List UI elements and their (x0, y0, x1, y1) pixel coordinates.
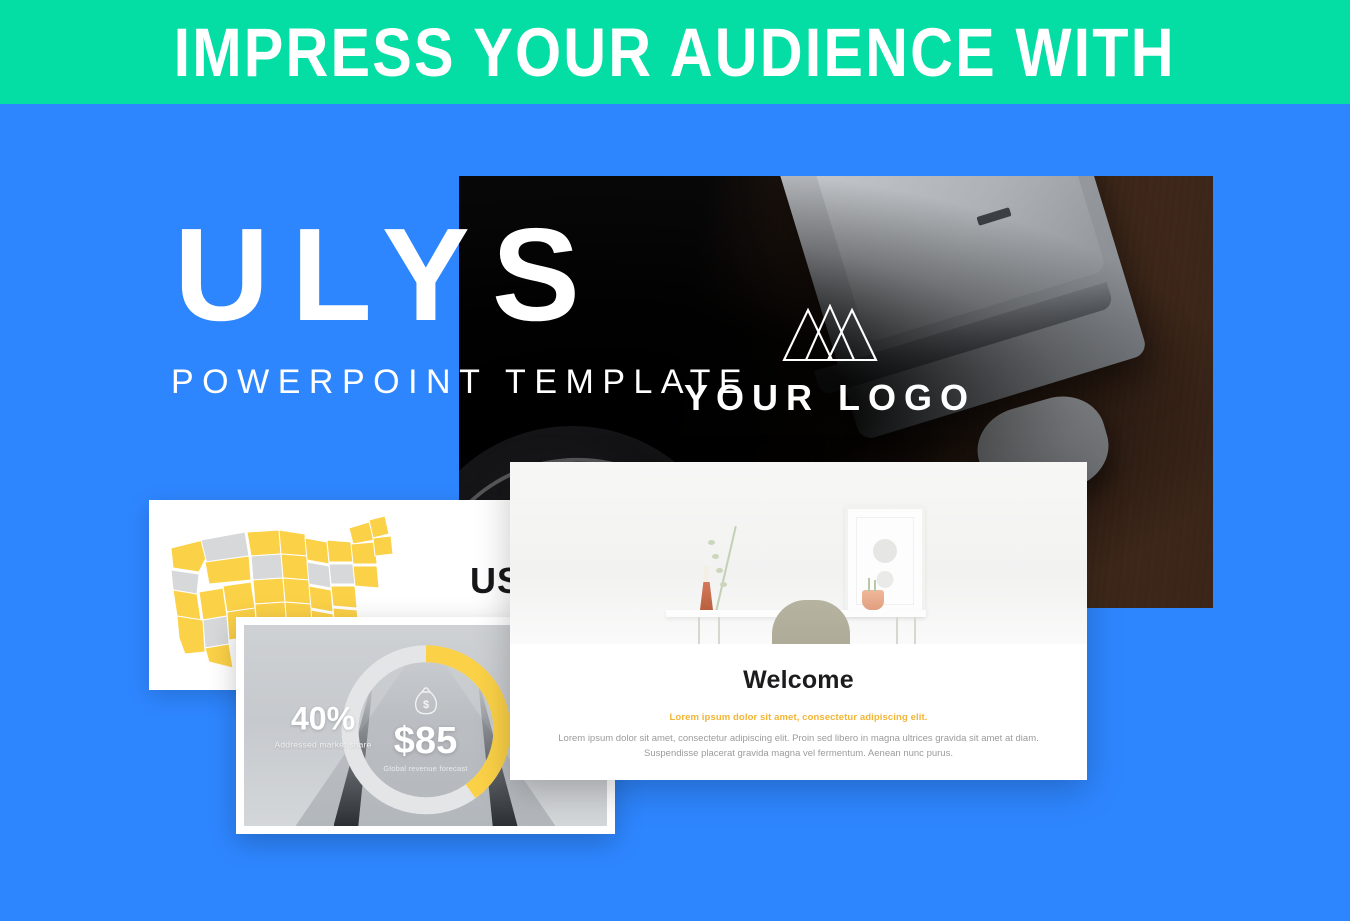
pot-sprig (868, 578, 870, 592)
framed-art-icon (845, 506, 925, 616)
slide-welcome-preview[interactable]: Welcome Lorem ipsum dolor sit amet, cons… (510, 462, 1087, 780)
art-circle-large (873, 539, 897, 563)
plant-leaf (716, 568, 723, 573)
chart-center-group: $ $85 Global revenue forecast (366, 685, 486, 772)
triple-triangle-logo-icon (780, 304, 880, 368)
money-bag-icon: $ (412, 685, 440, 715)
chart-center-label: Global revenue forecast (366, 763, 486, 772)
art-circle-small (877, 571, 894, 588)
chair-icon (772, 600, 850, 644)
showcase-stage: YOUR LOGO ULYS POWERPOINT TEMPLATE (0, 104, 1350, 921)
chart-center-value: $85 (366, 721, 486, 759)
candle-icon (704, 566, 709, 584)
workspace-photo (510, 462, 1087, 644)
welcome-title: Welcome (550, 666, 1047, 695)
desk-leg (698, 617, 700, 644)
desk-leg (914, 617, 916, 644)
welcome-body-text: Lorem ipsum dolor sit amet, consectetur … (550, 732, 1047, 761)
svg-text:$: $ (422, 698, 428, 710)
welcome-text-block: Welcome Lorem ipsum dolor sit amet, cons… (510, 644, 1087, 761)
logo-text: YOUR LOGO (655, 380, 1005, 416)
desk-leg (718, 617, 720, 644)
logo-group: YOUR LOGO (655, 304, 1005, 416)
plant-leaf (708, 540, 715, 545)
header-title: IMPRESS YOUR AUDIENCE WITH (174, 18, 1176, 87)
welcome-subtitle: Lorem ipsum dolor sit amet, consectetur … (550, 712, 1047, 723)
pot-sprig (874, 580, 876, 592)
plant-pot-icon (862, 590, 884, 610)
plant-leaf (720, 582, 727, 587)
header-banner: IMPRESS YOUR AUDIENCE WITH (0, 0, 1350, 104)
vase-icon (700, 582, 713, 610)
plant-leaf (712, 554, 719, 559)
desk-leg (896, 617, 898, 644)
